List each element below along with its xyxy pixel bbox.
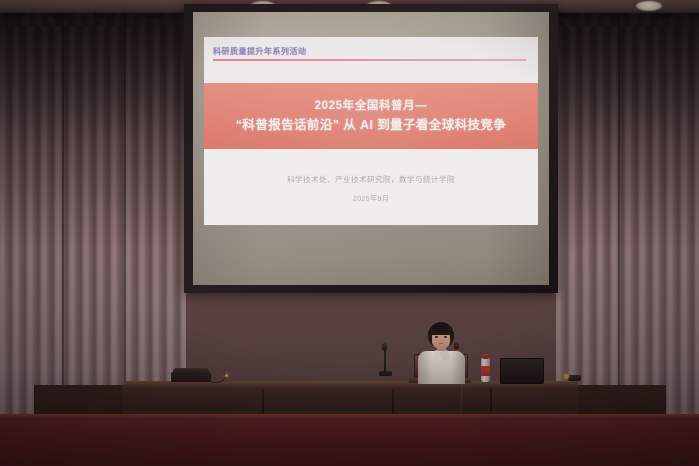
slide-header-rule — [213, 59, 526, 61]
slide-date: 2025年9月 — [353, 194, 389, 204]
microphone-capsule-icon — [382, 343, 387, 351]
stage-curtain-right — [556, 0, 699, 420]
presenter-shading — [418, 351, 465, 384]
presentation-slide: 科研质量提升年系列活动 2025年全国科普月— “科普报告话前沿” 从 AI 到… — [204, 37, 538, 225]
slide-organizers: 科学技术处、产业技术研究院，数学与统计学院 — [287, 174, 455, 185]
presenter-eye-left-icon — [435, 336, 438, 338]
presenter-fringe-icon — [430, 325, 452, 335]
stage-curtain-left — [0, 0, 186, 420]
water-bottle-cap-icon — [483, 354, 488, 359]
curtain-seam — [124, 0, 126, 420]
slide-title-line-2: “科普报告话前沿” 从 AI 到量子看全球科技竞争 — [236, 117, 506, 133]
water-bottle-label-icon — [481, 366, 490, 376]
chair-icon — [500, 358, 544, 384]
ceiling-lamp-icon — [636, 1, 662, 11]
slide-header-text: 科研质量提升年系列活动 — [213, 46, 307, 57]
red-carpet — [0, 418, 699, 466]
slide-header: 科研质量提升年系列活动 — [204, 37, 538, 83]
curtain-seam — [618, 0, 620, 420]
valance-scallop-right — [556, 12, 699, 28]
desk-telephone-handset-icon — [173, 368, 209, 375]
presenter-eye-right-icon — [444, 336, 447, 338]
slide-footer: 科学技术处、产业技术研究院，数学与统计学院 2025年9月 — [204, 149, 538, 225]
curtain-seam — [62, 0, 64, 420]
amber-light-icon — [564, 374, 569, 379]
ashtray-icon — [568, 375, 581, 381]
telephone-cord-icon — [206, 370, 226, 383]
valance-scallop-left — [0, 12, 186, 28]
photo-scene: 科研质量提升年系列活动 2025年全国科普月— “科普报告话前沿” 从 AI 到… — [0, 0, 699, 466]
presenter-figure — [410, 322, 472, 384]
podium-moulding — [123, 412, 578, 413]
slide-title-band: 2025年全国科普月— “科普报告话前沿” 从 AI 到量子看全球科技竞争 — [204, 83, 538, 149]
slide-title-line-1: 2025年全国科普月— — [315, 99, 428, 113]
indicator-light-icon — [225, 374, 228, 377]
